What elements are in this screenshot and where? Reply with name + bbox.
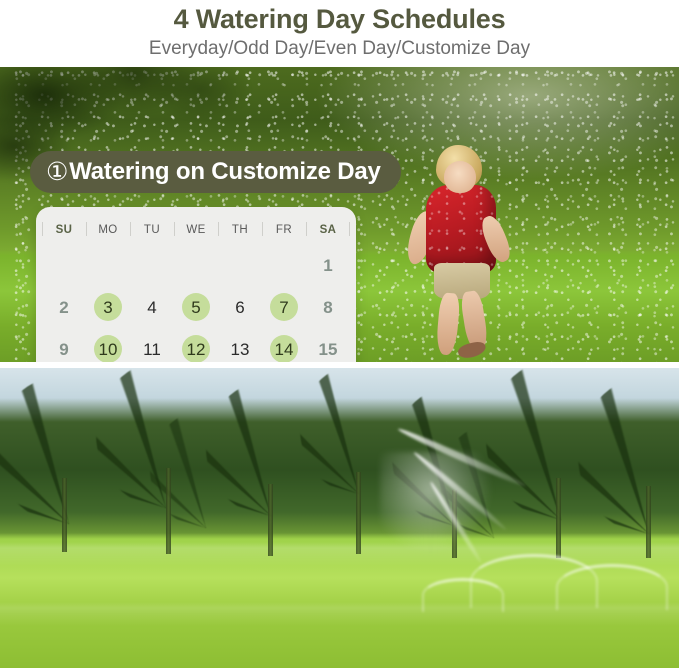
calendar-cell[interactable]: 6 (218, 287, 262, 327)
calendar-1-weekday-header: SU MO TU WE TH FR SA (36, 217, 356, 245)
day-selected[interactable]: 10 (94, 335, 122, 362)
schedule-panel-2: ② Watering on even/odd Day SU MO TU WE T… (0, 368, 679, 668)
calendar-card-1[interactable]: SU MO TU WE TH FR SA 1234567891011121314… (36, 207, 356, 362)
calendar-cell-empty (86, 245, 130, 285)
photo-golf-course-sprinklers (0, 368, 679, 668)
calendar-cell-empty (174, 245, 218, 285)
weekday-fr: FR (262, 221, 306, 239)
palm-trunk (166, 468, 171, 554)
calendar-cell-empty (42, 245, 86, 285)
child-figure (404, 145, 522, 355)
day-number[interactable]: 6 (226, 293, 254, 321)
day-placeholder (138, 251, 166, 279)
calendar-cell[interactable]: 2 (42, 287, 86, 327)
schedule-panel-1: ① Watering on Customize Day SU MO TU WE … (0, 67, 679, 362)
sprinkler-spray-dome (422, 578, 504, 612)
calendar-cell-empty (130, 245, 174, 285)
calendar-cell-empty (262, 245, 306, 285)
child-left-leg (435, 292, 460, 356)
palm-trunk (646, 486, 651, 558)
day-number[interactable]: 1 (314, 251, 342, 279)
calendar-cell-empty (218, 245, 262, 285)
day-placeholder (270, 251, 298, 279)
weekday-mo: MO (86, 221, 130, 239)
palm-tree-row (0, 368, 679, 668)
calendar-cell[interactable]: 9 (42, 329, 86, 362)
page-header: 4 Watering Day Schedules Everyday/Odd Da… (0, 0, 679, 63)
calendar-cell[interactable]: 7 (262, 287, 306, 327)
child-shorts (434, 263, 490, 299)
calendar-cell[interactable]: 10 (86, 329, 130, 362)
calendar-cell[interactable]: 15 (306, 329, 350, 362)
calendar-cell[interactable]: 11 (130, 329, 174, 362)
panel-1-badge-number: ① (46, 157, 68, 187)
palm-trunk (62, 478, 67, 552)
calendar-cell[interactable]: 13 (218, 329, 262, 362)
palm-trunk (356, 472, 361, 554)
calendar-cell[interactable]: 14 (262, 329, 306, 362)
day-number[interactable]: 13 (226, 335, 254, 362)
calendar-cell[interactable]: 1 (306, 245, 350, 285)
day-selected[interactable]: 3 (94, 293, 122, 321)
day-placeholder (50, 251, 78, 279)
sprinkler-spray-dome (556, 564, 668, 610)
day-number[interactable]: 11 (138, 335, 166, 362)
child-shoe (457, 339, 488, 360)
weekday-sa: SA (306, 221, 350, 239)
child-face (444, 161, 476, 193)
calendar-cell[interactable]: 5 (174, 287, 218, 327)
calendar-cell[interactable]: 8 (306, 287, 350, 327)
day-placeholder (94, 251, 122, 279)
panel-1-badge-label: Watering on Customize Day (69, 158, 380, 186)
page-title: 4 Watering Day Schedules (0, 3, 679, 35)
day-selected[interactable]: 12 (182, 335, 210, 362)
day-placeholder (182, 251, 210, 279)
palm-trunk (268, 484, 273, 556)
weekday-th: TH (218, 221, 262, 239)
day-number[interactable]: 15 (314, 335, 342, 362)
calendar-cell[interactable]: 12 (174, 329, 218, 362)
day-number[interactable]: 2 (50, 293, 78, 321)
weekday-we: WE (174, 221, 218, 239)
calendar-1-day-grid: 123456789101112131415 (36, 245, 356, 362)
weekday-tu: TU (130, 221, 174, 239)
calendar-cell[interactable]: 3 (86, 287, 130, 327)
day-selected[interactable]: 5 (182, 293, 210, 321)
day-number[interactable]: 8 (314, 293, 342, 321)
day-number[interactable]: 4 (138, 293, 166, 321)
day-placeholder (226, 251, 254, 279)
panel-1-badge: ① Watering on Customize Day (30, 151, 401, 193)
calendar-cell[interactable]: 4 (130, 287, 174, 327)
day-number[interactable]: 9 (50, 335, 78, 362)
day-selected[interactable]: 14 (270, 335, 298, 362)
page-subtitle: Everyday/Odd Day/Even Day/Customize Day (0, 35, 679, 63)
day-selected[interactable]: 7 (270, 293, 298, 321)
weekday-su: SU (42, 221, 86, 239)
